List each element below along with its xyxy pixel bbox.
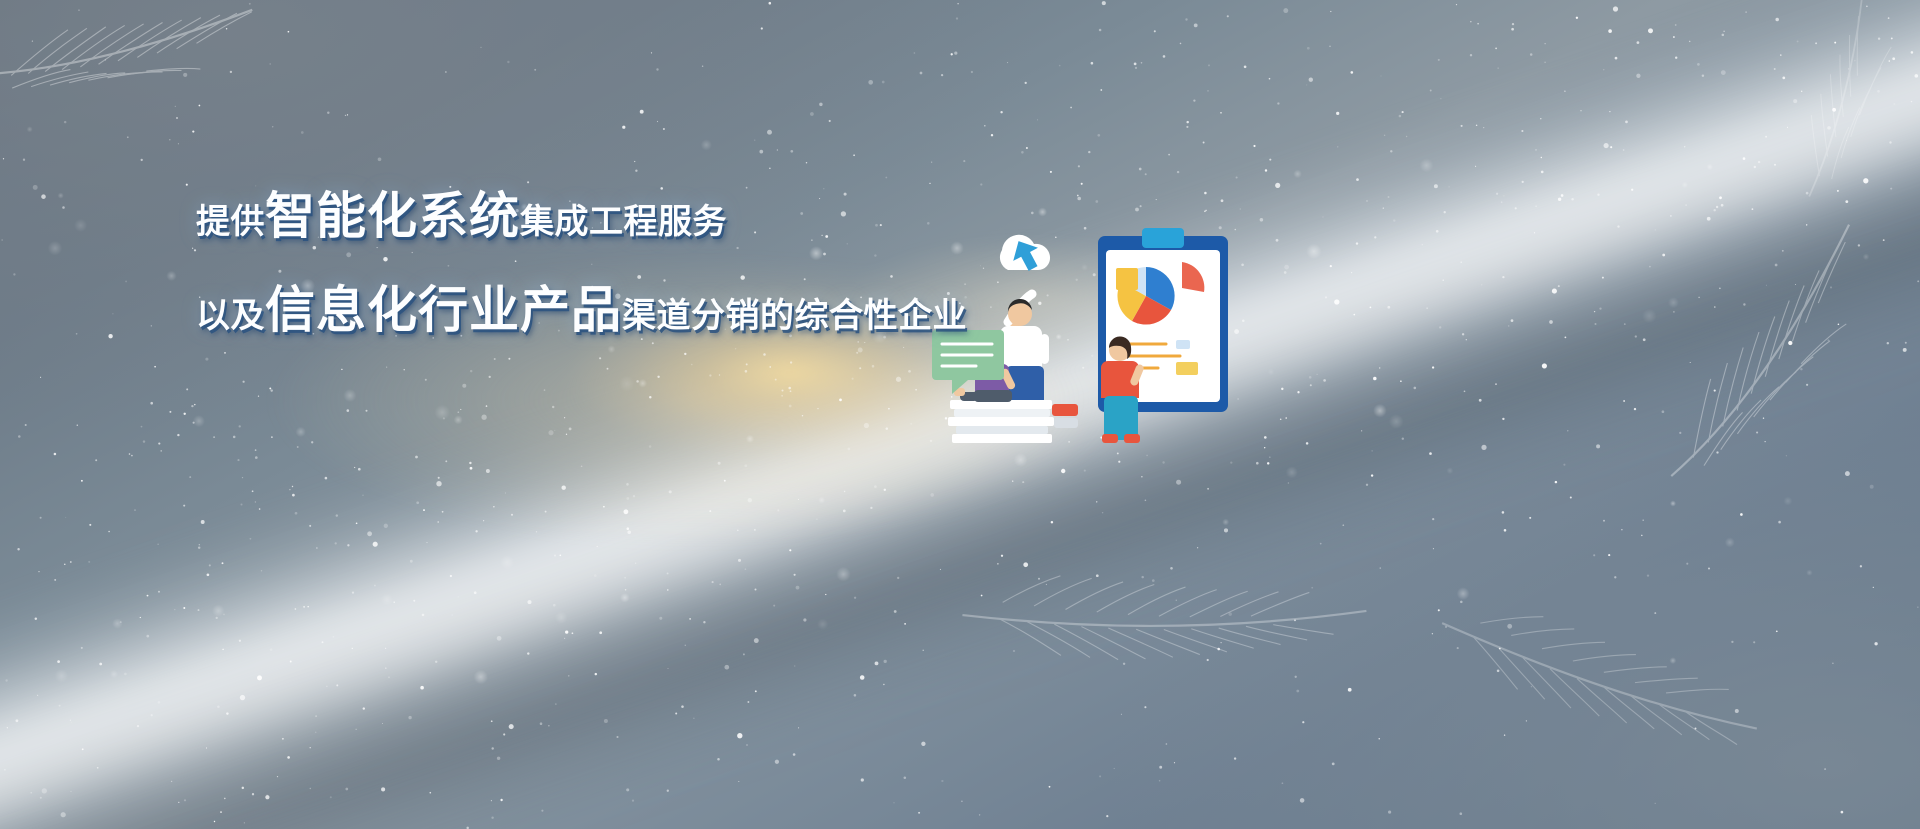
- headline-line-2: 以及信息化行业产品渠道分销的综合性企业: [196, 280, 1056, 346]
- headline-line2-seg2: 信息化行业产品: [265, 281, 622, 339]
- hero-headline: 提供智能化系统集成工程服务 以及信息化行业产品渠道分销的综合性企业: [196, 186, 1056, 346]
- stack-of-books: [948, 400, 1078, 443]
- headline-line-1: 提供智能化系统集成工程服务: [196, 186, 1056, 252]
- headline-line1-seg1: 提供: [196, 202, 265, 242]
- headline-line1-seg3: 集成工程服务: [520, 202, 727, 242]
- feather-bottom-right: [1422, 583, 1779, 798]
- hero-banner: 提供智能化系统集成工程服务 以及信息化行业产品渠道分销的综合性企业: [0, 0, 1920, 829]
- headline-line2-seg3: 渠道分销的综合性企业: [622, 296, 967, 336]
- headline-line2-seg1: 以及: [196, 296, 265, 336]
- headline-line1-seg2: 智能化系统: [265, 187, 520, 245]
